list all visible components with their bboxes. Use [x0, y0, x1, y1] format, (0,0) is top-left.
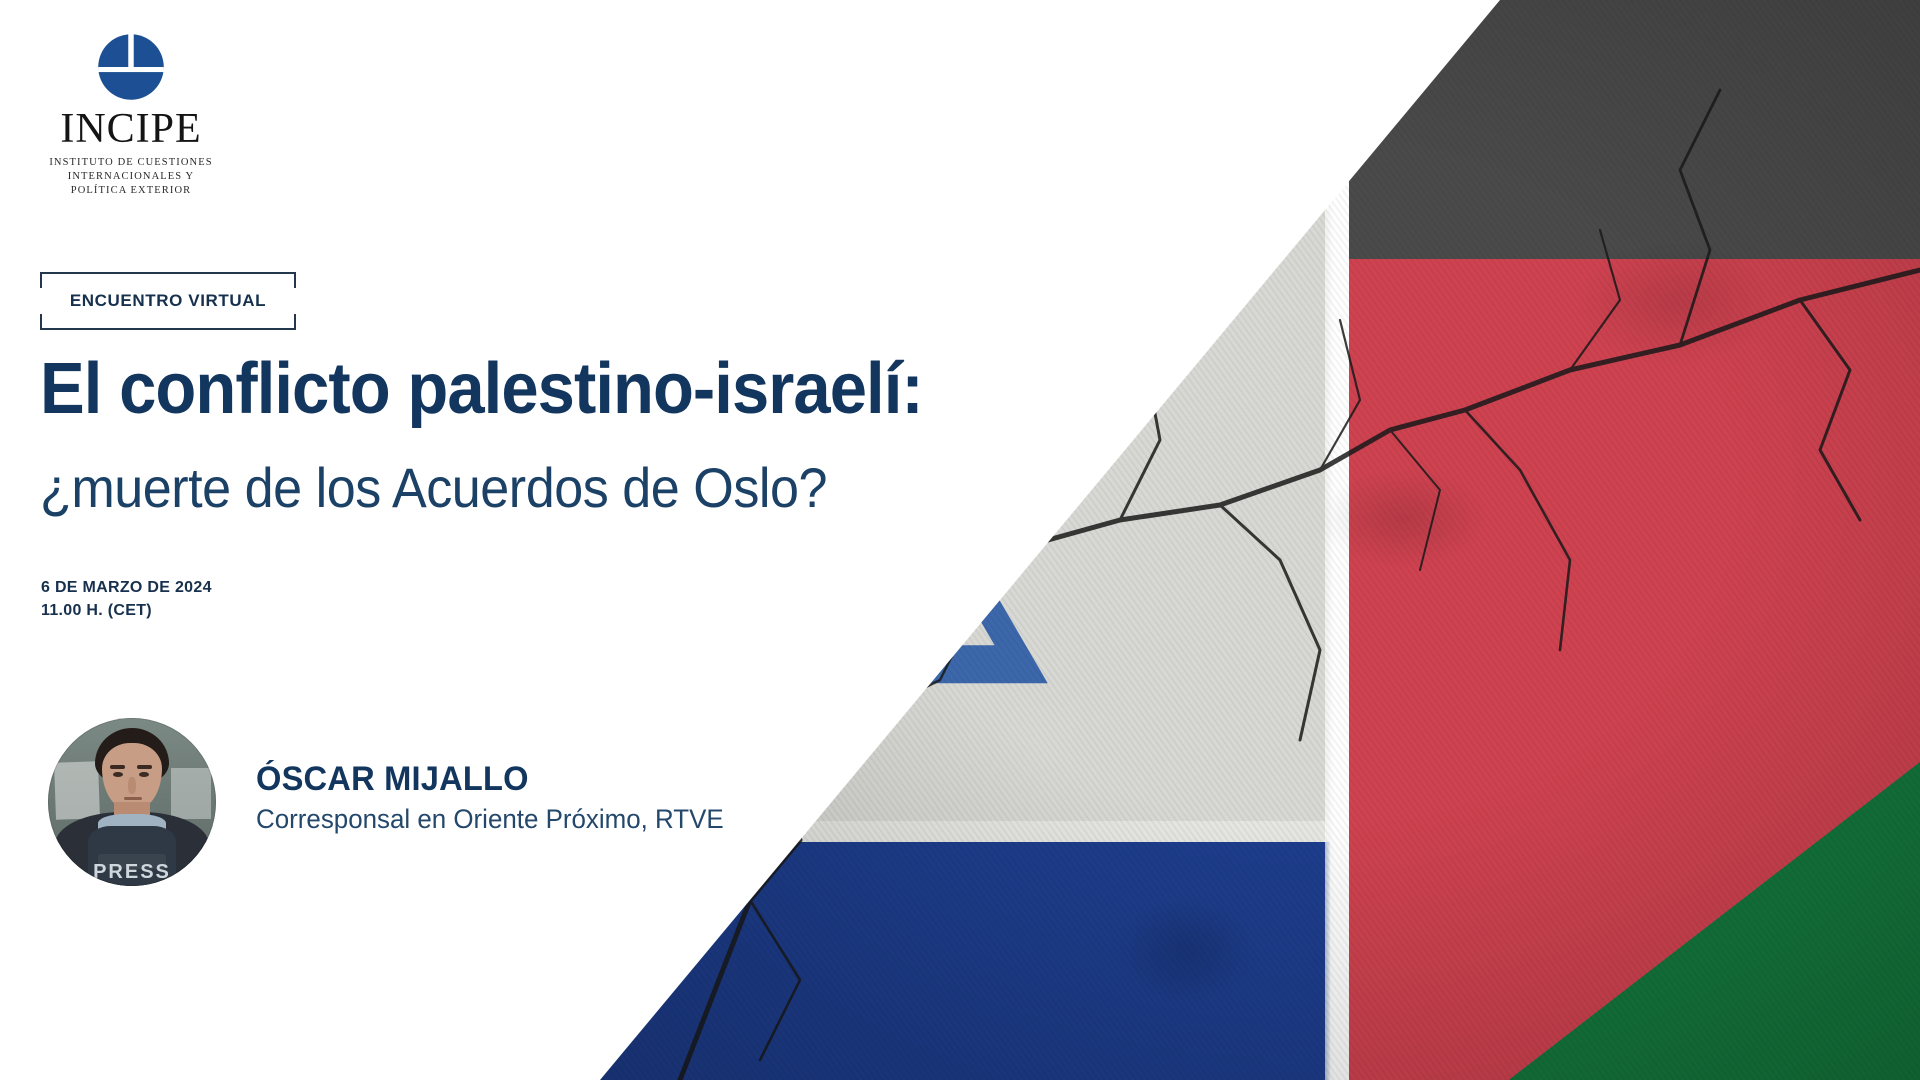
incipe-wordmark: INCIPE — [36, 110, 226, 150]
flags-artwork — [0, 0, 1920, 1080]
flags-photo — [560, 0, 1920, 1080]
incipe-tagline-line-3: POLÍTICA EXTERIOR — [36, 184, 226, 198]
event-title: El conflicto palestino-israelí: — [40, 352, 923, 428]
event-type-badge: ENCUENTRO VIRTUAL — [40, 272, 296, 330]
incipe-tagline: INSTITUTO DE CUESTIONES INTERNACIONALES … — [36, 156, 226, 199]
speaker-avatar: PRESS — [48, 718, 216, 886]
speaker-details: ÓSCAR MIJALLO Corresponsal en Oriente Pr… — [256, 761, 743, 842]
incipe-tagline-line-1: INSTITUTO DE CUESTIONES — [36, 156, 226, 170]
speaker-role: Corresponsal en Oriente Próximo, RTVE — [256, 803, 724, 837]
event-time: 11.00 H. (CET) — [41, 599, 212, 622]
incipe-logo: INCIPE INSTITUTO DE CUESTIONES INTERNACI… — [36, 28, 226, 198]
event-datetime: 6 DE MARZO DE 2024 11.00 H. (CET) — [41, 576, 212, 622]
israel-flag-top-stripe — [560, 0, 1330, 189]
incipe-circle-quadrant-logo-icon — [92, 28, 170, 106]
event-date: 6 DE MARZO DE 2024 — [41, 576, 212, 599]
speaker-name: ÓSCAR MIJALLO — [256, 761, 724, 798]
incipe-tagline-line-2: INTERNACIONALES Y — [36, 170, 226, 184]
badge-label: ENCUENTRO VIRTUAL — [40, 272, 296, 330]
photo-vignette — [560, 0, 1920, 1080]
event-subtitle: ¿muerte de los Acuerdos de Oslo? — [40, 458, 827, 518]
speaker-block: PRESS ÓSCAR MIJALLO Corresponsal en Orie… — [48, 718, 743, 886]
event-poster: INCIPE INSTITUTO DE CUESTIONES INTERNACI… — [0, 0, 1920, 1080]
